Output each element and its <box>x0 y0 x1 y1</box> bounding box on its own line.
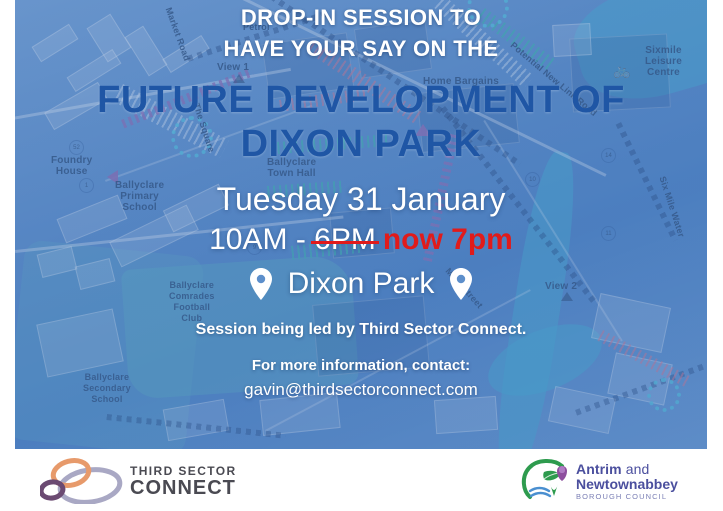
event-venue: Dixon Park <box>15 265 707 303</box>
tsc-rings-icon <box>40 458 126 504</box>
event-venue-label: Dixon Park <box>288 265 435 303</box>
poster-artwork: 🚲 52 1 10 14 11 9 Foundry HouseBallyclar… <box>15 0 707 449</box>
contact-email[interactable]: gavin@thirdsectorconnect.com <box>15 378 707 401</box>
tsc-line-1: THIRD SECTOR <box>130 465 237 477</box>
anbc-wordmark: Antrim and Newtownabbey BOROUGH COUNCIL <box>576 462 678 501</box>
antrim-newtownabbey-council-logo: Antrim and Newtownabbey BOROUGH COUNCIL <box>520 456 700 506</box>
contact-label: For more information, contact: <box>15 355 707 376</box>
kicker-line-1: DROP-IN SESSION TO <box>15 2 707 33</box>
poster-title: FUTURE DEVELOPMENT OF DIXON PARK <box>15 78 707 166</box>
title-line-2: DIXON PARK <box>15 122 707 166</box>
anbc-line-1: Antrim and <box>576 462 678 476</box>
tsc-rings-mark <box>40 458 126 504</box>
third-sector-connect-logo: THIRD SECTOR CONNECT <box>40 457 240 505</box>
anbc-line-2: Newtownabbey <box>576 477 678 491</box>
anbc-line-3: BOROUGH COUNCIL <box>576 493 678 501</box>
anbc-crest-icon <box>520 458 574 504</box>
tsc-wordmark: THIRD SECTOR CONNECT <box>130 465 237 498</box>
poster-kicker: DROP-IN SESSION TO HAVE YOUR SAY ON THE <box>15 2 707 64</box>
anbc-line-1-strong: Antrim <box>576 461 622 477</box>
tsc-line-2: CONNECT <box>130 478 237 498</box>
event-time-correction: now 7pm <box>383 223 513 256</box>
event-time-start: 10AM - <box>209 223 314 256</box>
footer-logos: THIRD SECTOR CONNECT Antrim and Newtowna… <box>0 449 723 511</box>
title-line-1: FUTURE DEVELOPMENT OF <box>15 78 707 122</box>
kicker-line-2: HAVE YOUR SAY ON THE <box>15 33 707 64</box>
anbc-line-1-light: and <box>626 461 650 477</box>
event-time-struck: 6PM <box>314 222 376 258</box>
location-pin-icon <box>248 267 274 301</box>
event-date: Tuesday 31 January <box>15 180 707 218</box>
location-pin-icon <box>448 267 474 301</box>
anbc-emblem <box>520 458 574 504</box>
session-led-by: Session being led by Third Sector Connec… <box>15 319 707 341</box>
event-time: 10AM - 6PMnow 7pm <box>15 222 707 258</box>
